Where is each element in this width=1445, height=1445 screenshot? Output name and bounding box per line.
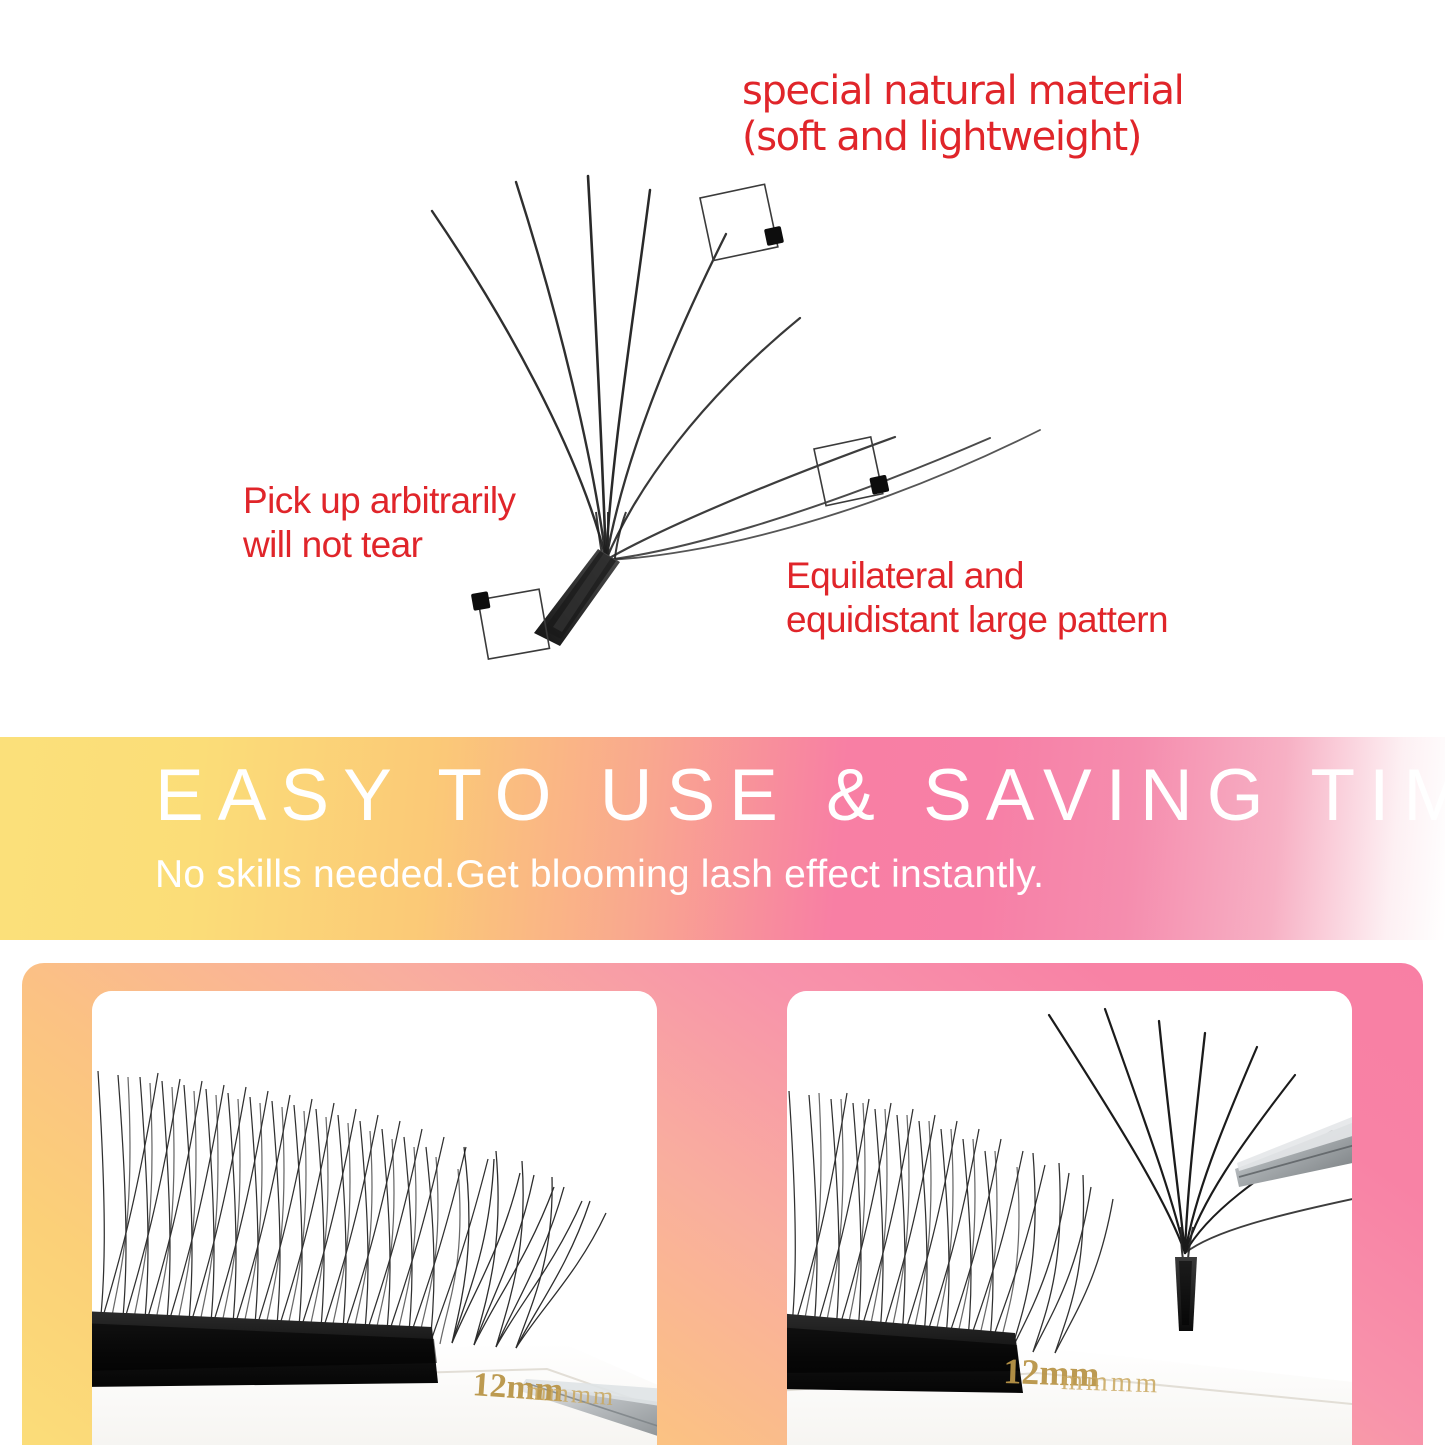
callout-label-pick-up: Pick up arbitrarily will not tear <box>243 479 515 566</box>
promo-headline: EASY TO USE & SAVING TIME <box>155 759 1445 832</box>
callout-marker-base-icon <box>471 582 550 660</box>
tray-size-label-left-echo: mmmm <box>526 1376 617 1411</box>
photo-card-lash-tray-with-tweezers: 12mm mmmm <box>92 991 657 1445</box>
callout-label-equilateral: Equilateral and equidistant large patter… <box>786 554 1168 641</box>
promo-subtitle: No skills needed.Get blooming lash effec… <box>155 855 1044 894</box>
lash-tray-photo-left: 12mm mmmm <box>92 991 657 1445</box>
tray-size-label-right-echo: mmmm <box>1061 1365 1161 1399</box>
lash-fan-illustration <box>0 0 1445 735</box>
callout-marker-right-icon <box>814 435 890 505</box>
callout-label-material: special natural material (soft and light… <box>742 68 1183 161</box>
lash-tray-photo-right: 12mm mmmm <box>787 991 1352 1445</box>
promo-banner: EASY TO USE & SAVING TIME No skills need… <box>0 737 1445 940</box>
callout-marker-top-icon <box>700 183 785 261</box>
photo-card-lash-fan-lifted: 12mm mmmm <box>787 991 1352 1445</box>
product-infographic-page: special natural material (soft and light… <box>0 0 1445 1445</box>
lash-fibers <box>432 176 990 560</box>
lash-fan-feature-diagram: special natural material (soft and light… <box>0 0 1445 735</box>
product-photo-panel: 12mm mmmm <box>22 963 1423 1445</box>
